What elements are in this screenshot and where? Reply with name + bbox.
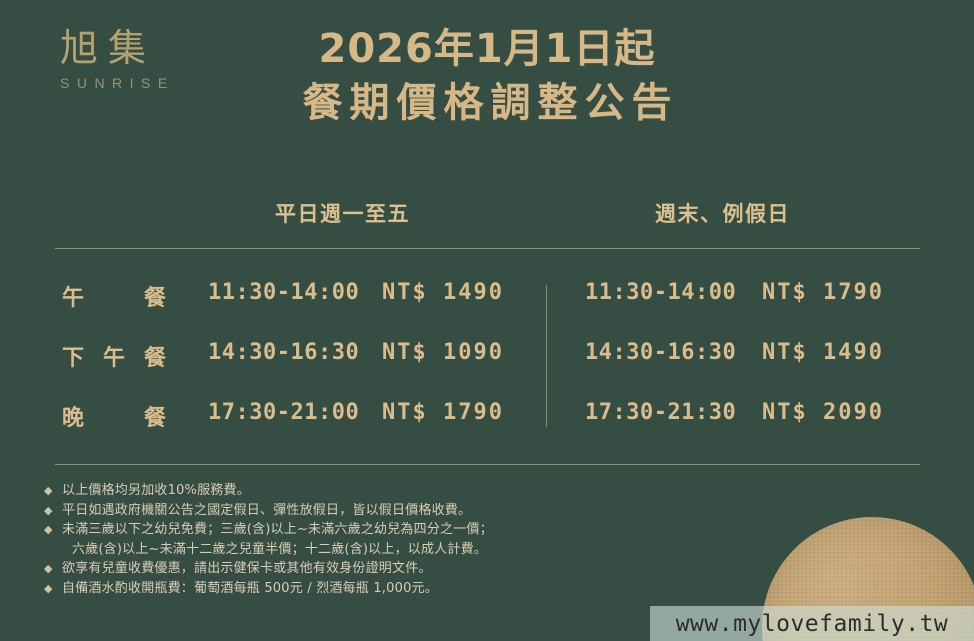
footnote-item: ◆ 未滿三歲以下之幼兒免費；三歲(含)以上~未滿六歲之幼兒為四分之一價； 六歲(… <box>44 520 664 559</box>
brand-logo: 旭集 SUNRISE <box>60 28 240 91</box>
meal-label: 下午餐 <box>62 340 166 372</box>
meal-label: 晚餐 <box>62 400 166 432</box>
footnote-item: ◆ 平日如遇政府機關公告之國定假日、彈性放假日，皆以假日價格收費。 <box>44 501 664 521</box>
watermark-band: www.mylovefamily.tw <box>650 606 974 641</box>
weekend-price: NT$ 1490 <box>762 340 884 365</box>
footnote-text: 以上價格均另加收10%服務費。 <box>62 483 250 498</box>
weekday-price: NT$ 1090 <box>382 340 504 365</box>
footnote-text: 欲享有兒童收費優惠，請出示健保卡或其他有效身份證明文件。 <box>62 561 432 576</box>
weekend-time: 14:30-16:30 <box>585 340 736 365</box>
footnote-text: 自備酒水酌收開瓶費：葡萄酒每瓶 500元 / 烈酒每瓶 1,000元。 <box>62 581 438 596</box>
bullet-icon: ◆ <box>44 481 53 501</box>
weekday-time: 14:30-16:30 <box>208 340 359 365</box>
footnote-item: ◆ 欲享有兒童收費優惠，請出示健保卡或其他有效身份證明文件。 <box>44 559 664 579</box>
watermark-url: www.mylovefamily.tw <box>676 611 949 637</box>
bullet-icon: ◆ <box>44 559 53 579</box>
column-header-weekend: 週末、例假日 <box>655 198 790 228</box>
brand-logo-wordmark: SUNRISE <box>60 75 240 91</box>
meal-label: 午餐 <box>62 280 166 312</box>
divider-bottom <box>55 464 920 465</box>
bullet-icon: ◆ <box>44 501 53 521</box>
footnote-item: ◆ 自備酒水酌收開瓶費：葡萄酒每瓶 500元 / 烈酒每瓶 1,000元。 <box>44 579 664 599</box>
divider-top <box>55 248 920 249</box>
bullet-icon: ◆ <box>44 520 53 540</box>
column-header-weekday: 平日週一至五 <box>275 198 410 228</box>
weekend-price: NT$ 1790 <box>762 280 884 305</box>
footnote-text-continuation: 六歲(含)以上~未滿十二歲之兒童半價；十二歲(含)以上，以成人計費。 <box>62 540 664 560</box>
brand-logo-mark: 旭集 <box>60 28 240 69</box>
table-row: 晚餐 17:30-21:00 NT$ 1790 17:30-21:30 NT$ … <box>0 392 974 452</box>
price-table: 午餐 11:30-14:00 NT$ 1490 11:30-14:00 NT$ … <box>0 272 974 452</box>
table-row: 午餐 11:30-14:00 NT$ 1490 11:30-14:00 NT$ … <box>0 272 974 332</box>
weekday-price: NT$ 1790 <box>382 400 504 425</box>
weekday-time: 11:30-14:00 <box>208 280 359 305</box>
weekend-price: NT$ 2090 <box>762 400 884 425</box>
footnote-text: 未滿三歲以下之幼兒免費；三歲(含)以上~未滿六歲之幼兒為四分之一價； <box>62 522 493 537</box>
table-row: 下午餐 14:30-16:30 NT$ 1090 14:30-16:30 NT$… <box>0 332 974 392</box>
footnote-text: 平日如遇政府機關公告之國定假日、彈性放假日，皆以假日價格收費。 <box>62 503 471 518</box>
weekend-time: 17:30-21:30 <box>585 400 736 425</box>
footnote-item: ◆ 以上價格均另加收10%服務費。 <box>44 481 664 501</box>
weekend-time: 11:30-14:00 <box>585 280 736 305</box>
bullet-icon: ◆ <box>44 579 53 599</box>
weekday-time: 17:30-21:00 <box>208 400 359 425</box>
price-announcement-poster: 旭集 SUNRISE 2026年1月1日起 餐期價格調整公告 平日週一至五 週末… <box>0 0 974 641</box>
weekday-price: NT$ 1490 <box>382 280 504 305</box>
footnotes: ◆ 以上價格均另加收10%服務費。 ◆ 平日如遇政府機關公告之國定假日、彈性放假… <box>44 481 664 598</box>
